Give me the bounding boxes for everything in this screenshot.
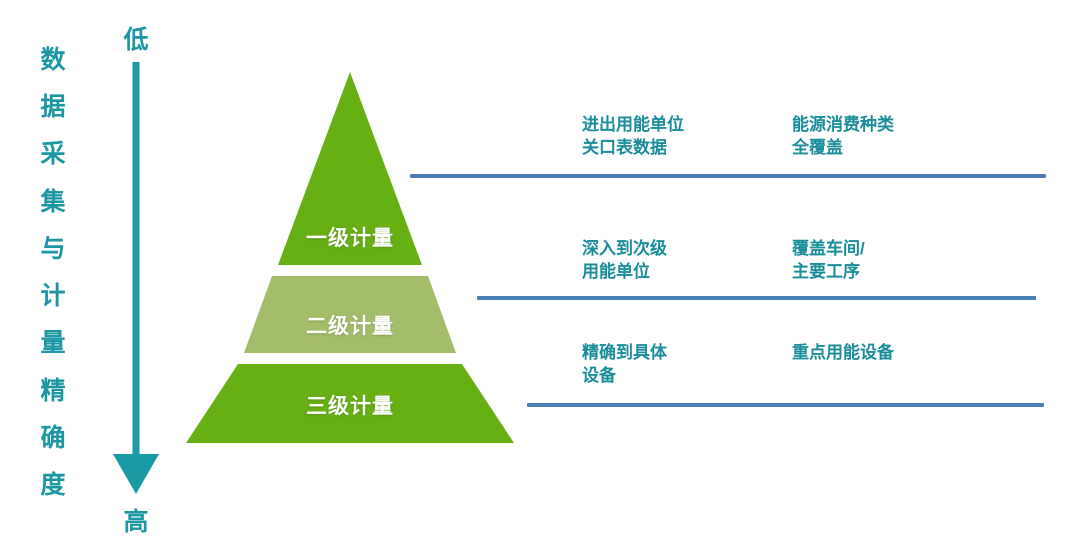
descriptor-row-2-columns: 深入到次级 用能单位 覆盖车间/ 主要工序 [582, 238, 1052, 284]
descriptor-row-2-rule [477, 296, 1036, 300]
descriptor-row-3-rule [527, 403, 1044, 407]
descriptor-row-1-rule [410, 174, 1046, 178]
descriptor-row-1-scope: 进出用能单位 关口表数据 [582, 114, 792, 160]
descriptor-row-2-coverage: 覆盖车间/ 主要工序 [792, 238, 1052, 284]
descriptor-row-3-coverage: 重点用能设备 [792, 342, 1052, 388]
descriptor-rows: 进出用能单位 关口表数据 能源消费种类 全覆盖 深入到次级 用能单位 覆盖车间/… [0, 0, 1080, 557]
descriptor-row-1-coverage: 能源消费种类 全覆盖 [792, 114, 1052, 160]
diagram-canvas: 数 据 采 集 与 计 量 精 确 度 低 高 一级计量 二级计量 三级计量 [0, 0, 1080, 557]
descriptor-row-3-scope: 精确到具体 设备 [582, 342, 792, 388]
descriptor-row-1-columns: 进出用能单位 关口表数据 能源消费种类 全覆盖 [582, 114, 1052, 160]
descriptor-row-2-scope: 深入到次级 用能单位 [582, 238, 792, 284]
descriptor-row-3-columns: 精确到具体 设备 重点用能设备 [582, 342, 1052, 388]
